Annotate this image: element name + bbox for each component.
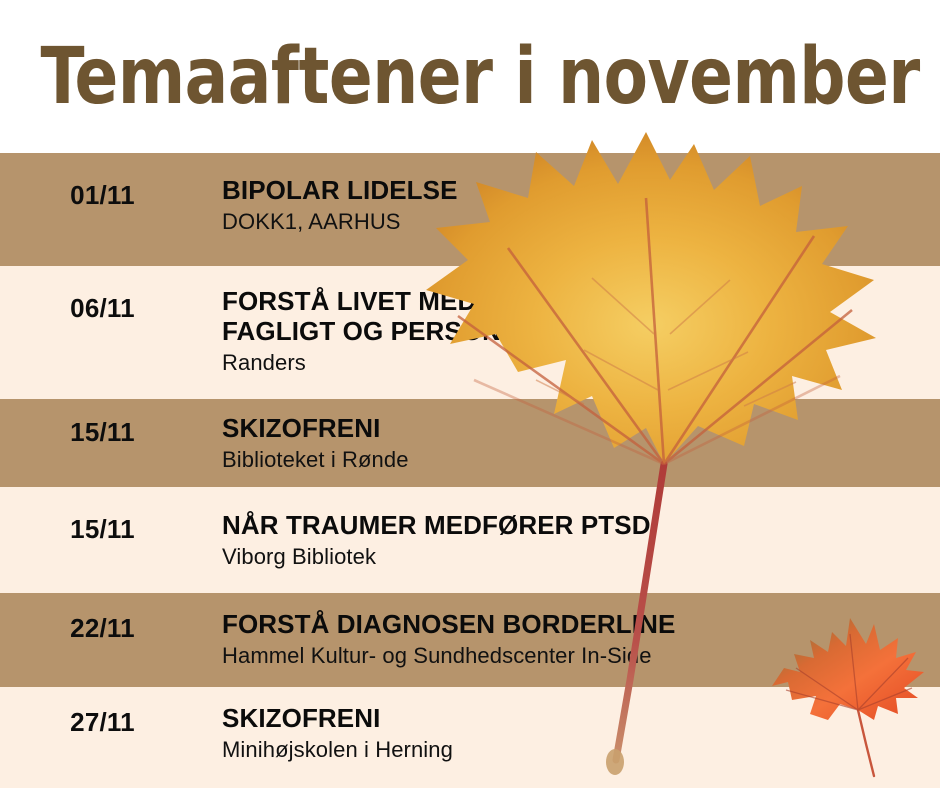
event-venue: Viborg Bibliotek (222, 543, 928, 571)
event-venue: Minihøjskolen i Herning (222, 736, 928, 764)
event-date: 15/11 (0, 418, 205, 447)
event-title: FORSTÅ LIVET MED AUTISME UD FRA ET FAGLI… (222, 286, 928, 346)
list-item: 27/11 SKIZOFRENI Minihøjskolen i Herning (0, 687, 940, 788)
event-title: SKIZOFRENI (222, 703, 928, 733)
event-body: NÅR TRAUMER MEDFØRER PTSD Viborg Bibliot… (222, 510, 928, 571)
event-title: FORSTÅ DIAGNOSEN BORDERLINE (222, 609, 928, 639)
event-body: SKIZOFRENI Biblioteket i Rønde (222, 413, 928, 474)
event-venue: DOKK1, AARHUS (222, 208, 928, 236)
event-date: 15/11 (0, 515, 205, 544)
event-venue: Hammel Kultur- og Sundhedscenter In-Side (222, 642, 928, 670)
event-body: FORSTÅ DIAGNOSEN BORDERLINE Hammel Kultu… (222, 609, 928, 670)
event-date: 06/11 (0, 294, 205, 323)
event-title: NÅR TRAUMER MEDFØRER PTSD (222, 510, 928, 540)
page-title: Temaaftener i november (0, 38, 920, 116)
list-item: 01/11 BIPOLAR LIDELSE DOKK1, AARHUS (0, 153, 940, 266)
poster-header: Temaaftener i november (0, 0, 940, 153)
list-item: 15/11 NÅR TRAUMER MEDFØRER PTSD Viborg B… (0, 487, 940, 593)
event-venue: Randers (222, 349, 928, 377)
list-item: 15/11 SKIZOFRENI Biblioteket i Rønde (0, 399, 940, 487)
event-body: SKIZOFRENI Minihøjskolen i Herning (222, 703, 928, 764)
event-body: FORSTÅ LIVET MED AUTISME UD FRA ET FAGLI… (222, 286, 928, 377)
event-title: SKIZOFRENI (222, 413, 928, 443)
event-date: 22/11 (0, 614, 205, 643)
event-body: BIPOLAR LIDELSE DOKK1, AARHUS (222, 175, 928, 236)
list-item: 06/11 FORSTÅ LIVET MED AUTISME UD FRA ET… (0, 266, 940, 399)
event-venue: Biblioteket i Rønde (222, 446, 928, 474)
poster-canvas: Temaaftener i november 01/11 BIPOLAR LID… (0, 0, 940, 788)
event-date: 27/11 (0, 708, 205, 737)
event-list: 01/11 BIPOLAR LIDELSE DOKK1, AARHUS 06/1… (0, 153, 940, 788)
event-date: 01/11 (0, 181, 205, 210)
list-item: 22/11 FORSTÅ DIAGNOSEN BORDERLINE Hammel… (0, 593, 940, 687)
event-title: BIPOLAR LIDELSE (222, 175, 928, 205)
